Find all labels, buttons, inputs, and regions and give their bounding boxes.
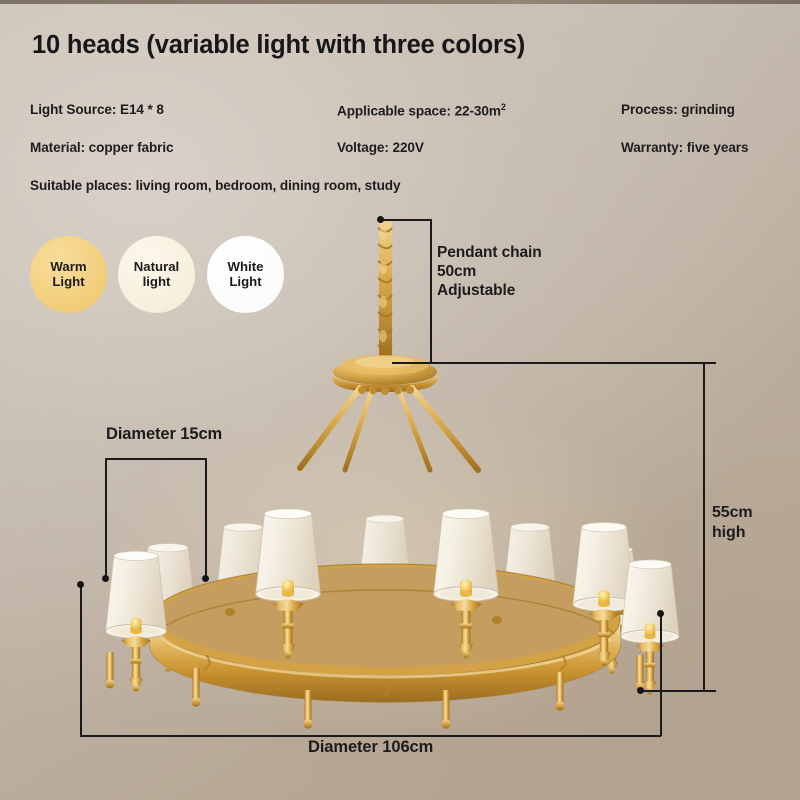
label-fixture-diameter: Diameter 106cm — [308, 737, 433, 757]
label-pendant-chain: Pendant chain 50cm Adjustable — [437, 244, 542, 301]
shade-dim-dot-right — [202, 575, 209, 582]
chandelier-illustration — [0, 0, 800, 800]
shade-dim-dot-left — [102, 575, 109, 582]
height-tick-top — [690, 362, 716, 364]
shade-dim-left — [105, 458, 107, 580]
pendant-leader-bottom — [392, 362, 704, 364]
height-leader-dot — [637, 687, 644, 694]
fixture-dim-dot-right — [657, 610, 664, 617]
lamp-head-5 — [621, 560, 679, 694]
pendant-chain — [378, 219, 392, 358]
label-overall-height: 55cm high — [712, 503, 753, 542]
pendant-leader-top — [380, 219, 432, 221]
canopy — [333, 355, 437, 392]
chandelier-ring — [150, 564, 620, 702]
pendant-dim-line — [430, 219, 432, 364]
height-dim-line — [703, 362, 705, 692]
label-shade-diameter: Diameter 15cm — [106, 424, 222, 444]
lamp-head-1 — [106, 551, 167, 691]
fixture-dim-dot-left — [77, 581, 84, 588]
fixture-dim-left — [80, 584, 82, 736]
shade-dim-top — [105, 458, 206, 460]
shade-dim-right — [205, 458, 207, 580]
pendant-leader-dot — [377, 216, 384, 223]
fixture-dim-right — [660, 613, 662, 736]
height-leader-bottom — [640, 690, 704, 692]
